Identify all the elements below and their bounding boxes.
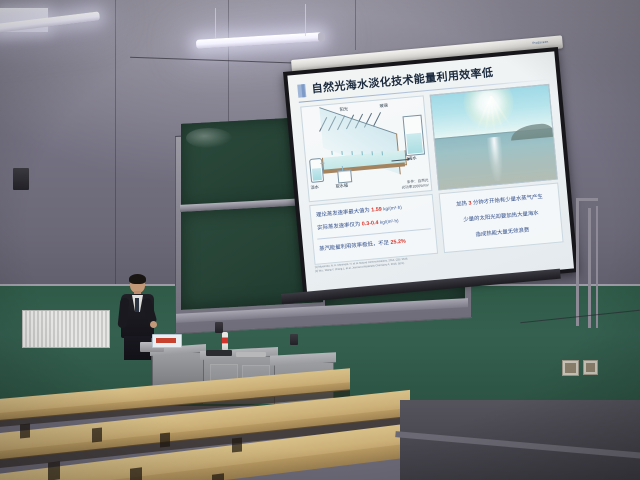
seat-gap-1 (20, 423, 30, 438)
light-rod-1 (215, 8, 216, 38)
diagram-condition-note: 条件：自然光 光功率1000W/m² (401, 178, 429, 190)
desk-keyboard[interactable] (236, 352, 266, 357)
seat-gap-4 (232, 437, 242, 452)
seat-gap-2 (92, 427, 102, 442)
wall-speaker-left (13, 168, 29, 190)
light-end-cap (318, 33, 325, 41)
condensation-drop (351, 151, 352, 155)
wall-speaker-right (290, 334, 298, 345)
wall-conduit-1 (576, 198, 579, 326)
lecture-hall-photo: ProScreen 自然光海水淡化技术能量利用效率低 阳光 玻璃 (0, 0, 640, 480)
sunset-sea-photo (430, 84, 558, 190)
presenter-hand (150, 321, 157, 328)
tank-water (406, 133, 423, 154)
solar-still-diagram: 阳光 玻璃 (300, 95, 432, 202)
wall-seam-vertical-3 (355, 0, 356, 50)
wall-outlet-1 (562, 360, 579, 376)
note-line-2: 光功率1000W/m² (401, 183, 429, 190)
stat-line-3: 蒸汽能量利用效率极低，不足 25.2% (319, 235, 432, 253)
seat-gap-row3-3 (212, 473, 224, 480)
screen-canvas: 自然光海水淡化技术能量利用效率低 阳光 玻璃 (287, 51, 574, 292)
outlet-face (565, 363, 576, 373)
basket-contents (156, 338, 176, 343)
pump-box-shape (337, 169, 352, 183)
stat-1-unit: kg/(m²·h) (383, 205, 402, 212)
stat-1-value: 1.59 (371, 207, 382, 214)
desk-laptop[interactable] (206, 350, 232, 356)
conclusion-1-value: 3 (468, 200, 472, 206)
presenter-hair (129, 274, 146, 284)
conclusion-line-1: 加热 3 分钟才开始有少量水蒸气产生 (440, 192, 558, 211)
diagram-label-collector: 取水箱 (335, 183, 348, 190)
stat-2-label: 实际蒸发速率仅为 (317, 222, 361, 232)
screen-border: 自然光海水淡化技术能量利用效率低 阳光 玻璃 (283, 47, 578, 297)
presenter-tie (135, 298, 139, 312)
seat-gap-row3-1 (48, 461, 60, 480)
wall-seam-vertical-1 (115, 0, 116, 286)
bottle-water (312, 168, 322, 181)
stat-2-value: 0.3-0.4 (362, 220, 379, 227)
conclusion-1-pre: 加热 (456, 201, 467, 208)
seat-gap-3 (160, 432, 170, 447)
sun-ray-icon (373, 112, 381, 127)
left-text-panel: 理论蒸发速率最大值为 1.59 kg/(m²·h) 实际蒸发速率仅为 0.3-0… (309, 194, 438, 265)
projection-screen-assembly: ProScreen 自然光海水淡化技术能量利用效率低 阳光 玻璃 (283, 58, 573, 313)
feed-bottle-shape (309, 158, 324, 183)
stat-3-value: 25.2% (390, 239, 406, 246)
chalkboard-glare (186, 128, 232, 148)
screen-brand-label: ProScreen (532, 40, 548, 45)
wall-conduit-2 (588, 208, 591, 328)
conclusion-line-3: 造成热能大量无效浪费 (443, 223, 561, 242)
drink-bottle[interactable] (222, 332, 228, 350)
conclusion-line-2: 少量的太阳光却要加热大量海水 (442, 208, 560, 227)
wall-outlet-2 (583, 360, 598, 375)
conclusion-1-post: 分钟才开始有少量水蒸气产生 (473, 194, 543, 206)
wall-conduit-bend (576, 198, 598, 201)
diagram-label-freshwater: 淡水 (310, 184, 319, 191)
stat-3-label: 蒸汽能量利用效率极低，不足 (319, 240, 389, 252)
stat-1-label: 理论蒸发速率最大值为 (316, 208, 370, 219)
wall-conduit-3 (596, 206, 598, 328)
seat-gap-row3-2 (130, 467, 142, 480)
wall-speaker-podium (215, 322, 223, 333)
presentation-slide: 自然光海水淡化技术能量利用效率低 阳光 玻璃 (287, 51, 574, 292)
collection-tank-shape (403, 115, 426, 157)
diagram-label-glass: 玻璃 (379, 103, 388, 110)
outlet-face (586, 363, 595, 372)
diagram-label-sunlight: 阳光 (339, 106, 348, 113)
wall-radiator (22, 310, 110, 348)
right-text-panel: 加热 3 分钟才开始有少量水蒸气产生 少量的太阳光却要加热大量海水 造成热能大量… (439, 183, 564, 254)
diagram-label-seawater: 海水 (408, 155, 417, 162)
stat-2-unit: kg/(m²·h) (380, 218, 399, 225)
desk-basket[interactable] (152, 334, 182, 348)
light-rod-2 (305, 4, 306, 36)
